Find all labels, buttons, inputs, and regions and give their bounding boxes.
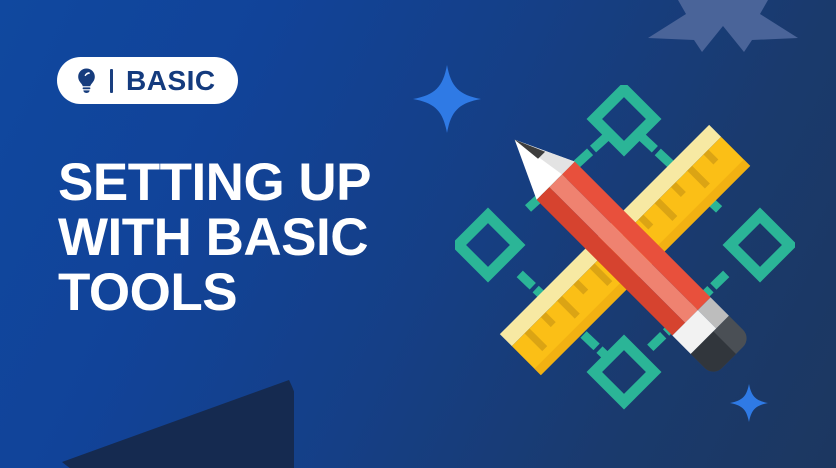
pencil-and-ruler-illustration bbox=[455, 85, 795, 415]
headline-line-3: TOOLS bbox=[58, 265, 398, 320]
page-title: SETTING UP WITH BASIC TOOLS bbox=[58, 155, 398, 320]
headline-line-1: SETTING UP bbox=[58, 155, 398, 210]
badge-label: BASIC bbox=[126, 67, 216, 95]
teal-diamond-right bbox=[730, 215, 789, 274]
teal-diamond-left bbox=[458, 215, 517, 274]
arc-shape-bottom-left bbox=[62, 374, 294, 468]
badge[interactable]: BASIC bbox=[57, 57, 238, 104]
badge-divider bbox=[110, 69, 113, 93]
banner-canvas: BASIC SETTING UP WITH BASIC TOOLS bbox=[0, 0, 836, 468]
headline-line-2: WITH BASIC bbox=[58, 210, 398, 265]
star-burst-icon bbox=[648, 0, 798, 52]
lightbulb-icon bbox=[77, 68, 96, 93]
